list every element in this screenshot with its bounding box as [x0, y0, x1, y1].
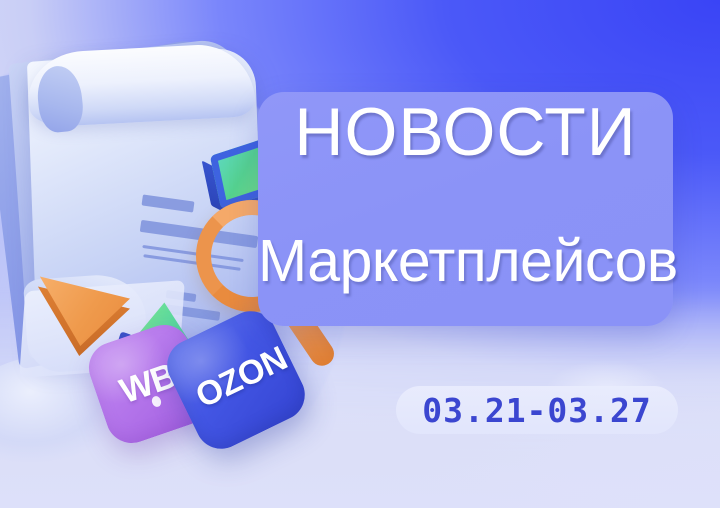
- news-banner: WB OZON НОВОСТИ Маркетплейсов 03.21-03.2…: [0, 0, 720, 508]
- headline-card: НОВОСТИ Маркетплейсов: [258, 92, 673, 326]
- date-range-badge: 03.21-03.27: [396, 386, 678, 434]
- headline-primary: НОВОСТИ: [258, 98, 673, 166]
- ozon-tile-label: OZON: [190, 339, 294, 416]
- date-range-label: 03.21-03.27: [422, 391, 652, 430]
- headline-secondary: Маркетплейсов: [258, 232, 673, 291]
